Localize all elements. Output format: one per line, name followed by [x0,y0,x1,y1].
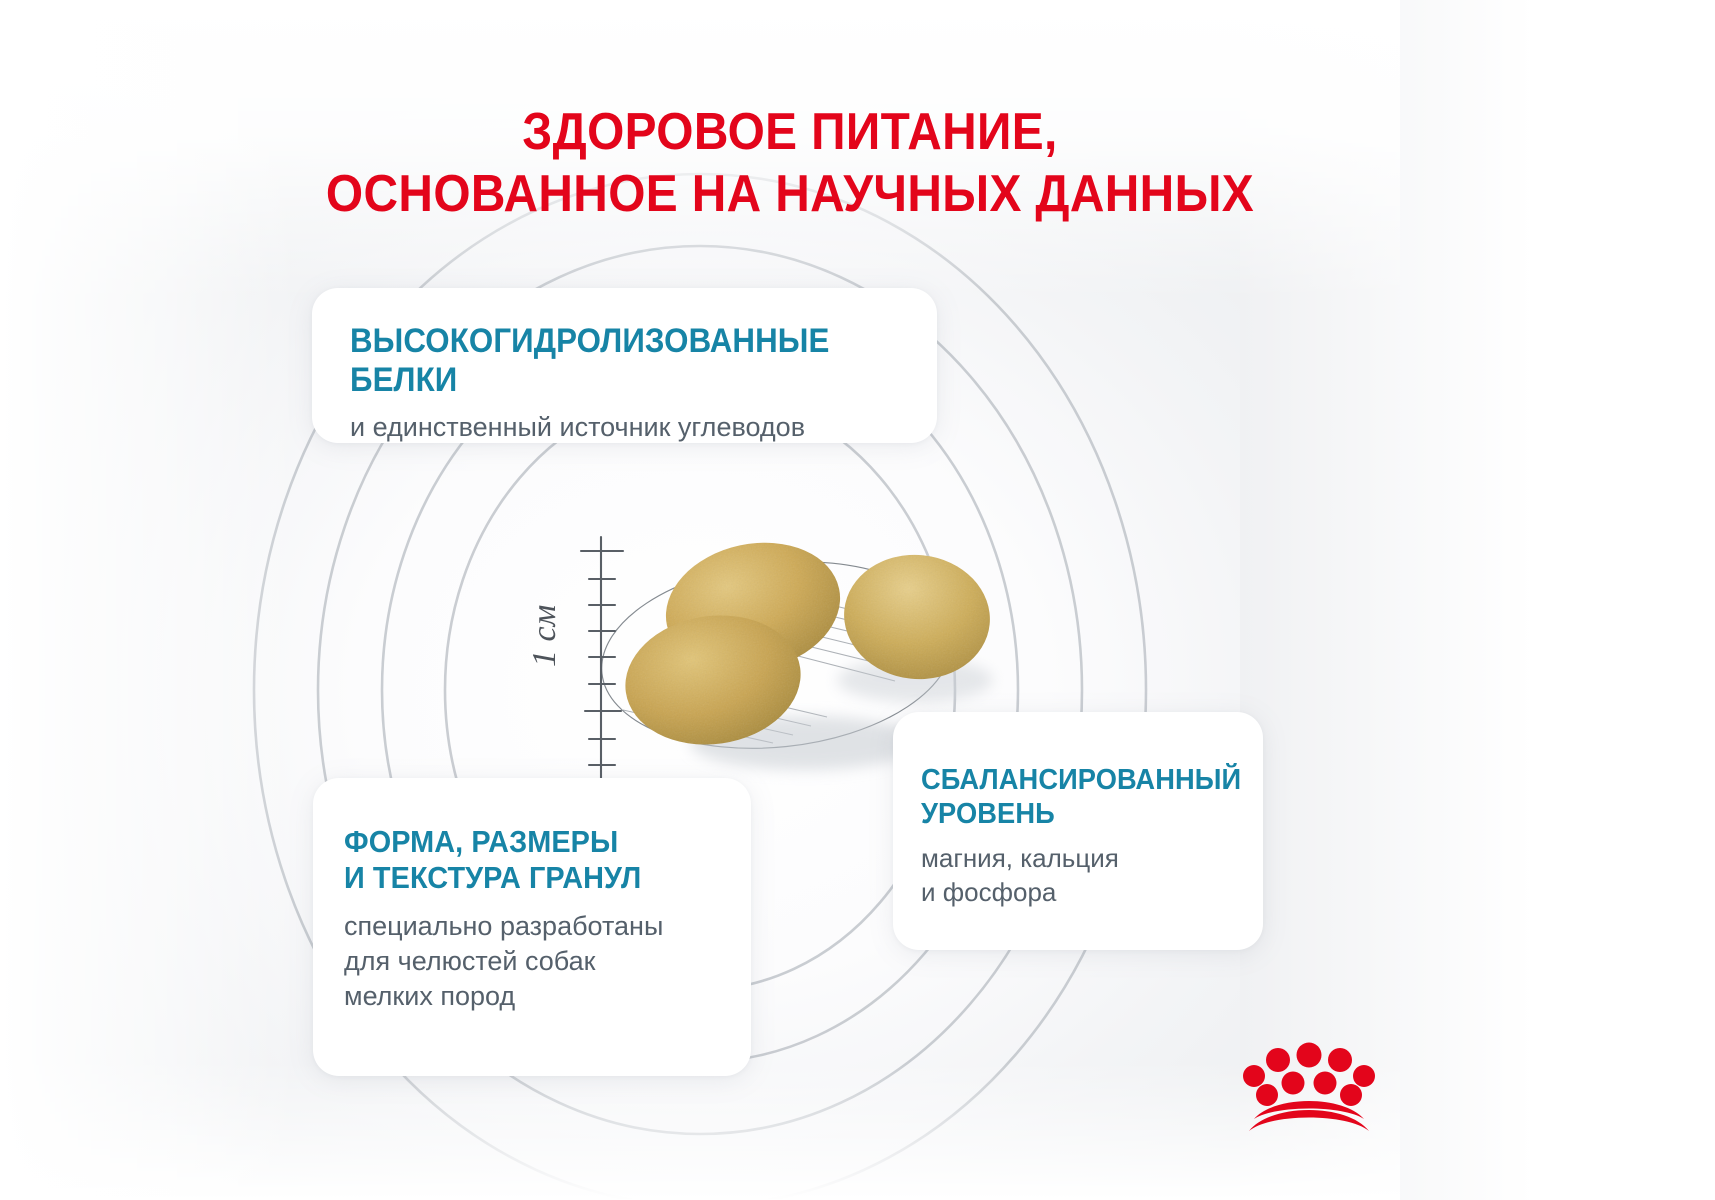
feature-card-protein: ВЫСОКОГИДРОЛИЗОВАННЫЕ БЕЛКИ и единственн… [312,288,937,443]
feature-card-kibble-body-line-3: мелких пород [344,981,515,1011]
ruler-label: 1 см [526,605,563,667]
feature-card-kibble-title-line-1: ФОРМА, РАЗМЕРЫ [344,824,618,859]
feature-card-kibble-body-line-1: специально разработаны [344,911,663,941]
feature-card-kibble-body: специально разработаны для челюстей соба… [344,909,725,1014]
feature-card-kibble-title-line-2: И ТЕКСТУРА ГРАНУЛ [344,860,641,895]
feature-card-minerals-body-line-2: и фосфора [921,877,1056,907]
feature-card-minerals-body-line-1: магния, кальция [921,843,1119,873]
page-title-line-1: ЗДОРОВОЕ ПИТАНИЕ, [63,101,1517,163]
promo-banner: 1 см ЗДОРОВОЕ ПИТАНИЕ, ОСНОВАННОЕ НА НАУ… [0,0,1715,1200]
feature-card-kibble-title: ФОРМА, РАЗМЕРЫ И ТЕКСТУРА ГРАНУЛ [344,824,698,896]
feature-card-minerals-title-line-1: СБАЛАНСИРОВАННЫЙ [921,764,1241,796]
feature-card-kibble: ФОРМА, РАЗМЕРЫ И ТЕКСТУРА ГРАНУЛ специал… [313,778,751,1076]
feature-card-protein-body: и единственный источник углеводов [350,410,907,445]
feature-card-minerals-title: СБАЛАНСИРОВАННЫЙ УРОВЕНЬ [921,764,1220,831]
feature-card-kibble-body-line-2: для челюстей собак [344,946,595,976]
feature-card-minerals-title-line-2: УРОВЕНЬ [921,798,1055,830]
ruler-scale [581,537,623,791]
royal-canin-crown-logo [1243,1035,1375,1137]
feature-card-protein-title: ВЫСОКОГИДРОЛИЗОВАННЫЕ БЕЛКИ [350,322,862,401]
feature-card-minerals: СБАЛАНСИРОВАННЫЙ УРОВЕНЬ магния, кальция… [893,712,1263,950]
page-title-line-2: ОСНОВАННОЕ НА НАУЧНЫХ ДАННЫХ [63,163,1517,225]
page-title: ЗДОРОВОЕ ПИТАНИЕ, ОСНОВАННОЕ НА НАУЧНЫХ … [0,101,1580,226]
feature-card-minerals-body: магния, кальция и фосфора [921,842,1239,910]
